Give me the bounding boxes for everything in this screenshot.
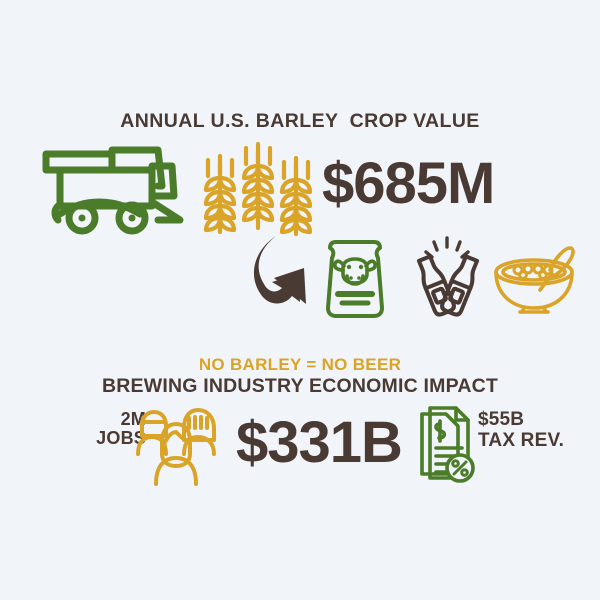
infographic-canvas: ANNUAL U.S. BARLEY CROP VALUE (0, 0, 600, 600)
tax-revenue-label: $55B TAX REV. (478, 410, 564, 452)
wheat-stalks-icon (198, 142, 318, 238)
curved-arrow-icon (246, 234, 324, 310)
barley-crop-value: $685M (322, 155, 494, 213)
tax-documents-icon (418, 404, 480, 486)
feed-bag-cow-icon (322, 236, 388, 320)
tax-unit: TAX REV. (478, 431, 564, 452)
section-subtitle: BREWING INDUSTRY ECONOMIC IMPACT (0, 375, 600, 398)
combine-harvester-icon (40, 140, 200, 230)
cereal-bowl-icon (492, 236, 580, 320)
brewing-economic-impact-value: $331B (236, 414, 402, 472)
clinking-beer-bottles-icon (408, 234, 486, 318)
tax-amount: $55B (478, 410, 564, 431)
tagline-no-barley-no-beer: NO BARLEY = NO BEER (0, 355, 600, 375)
page-title: ANNUAL U.S. BARLEY CROP VALUE (0, 110, 600, 133)
group-of-people-icon (128, 404, 224, 488)
